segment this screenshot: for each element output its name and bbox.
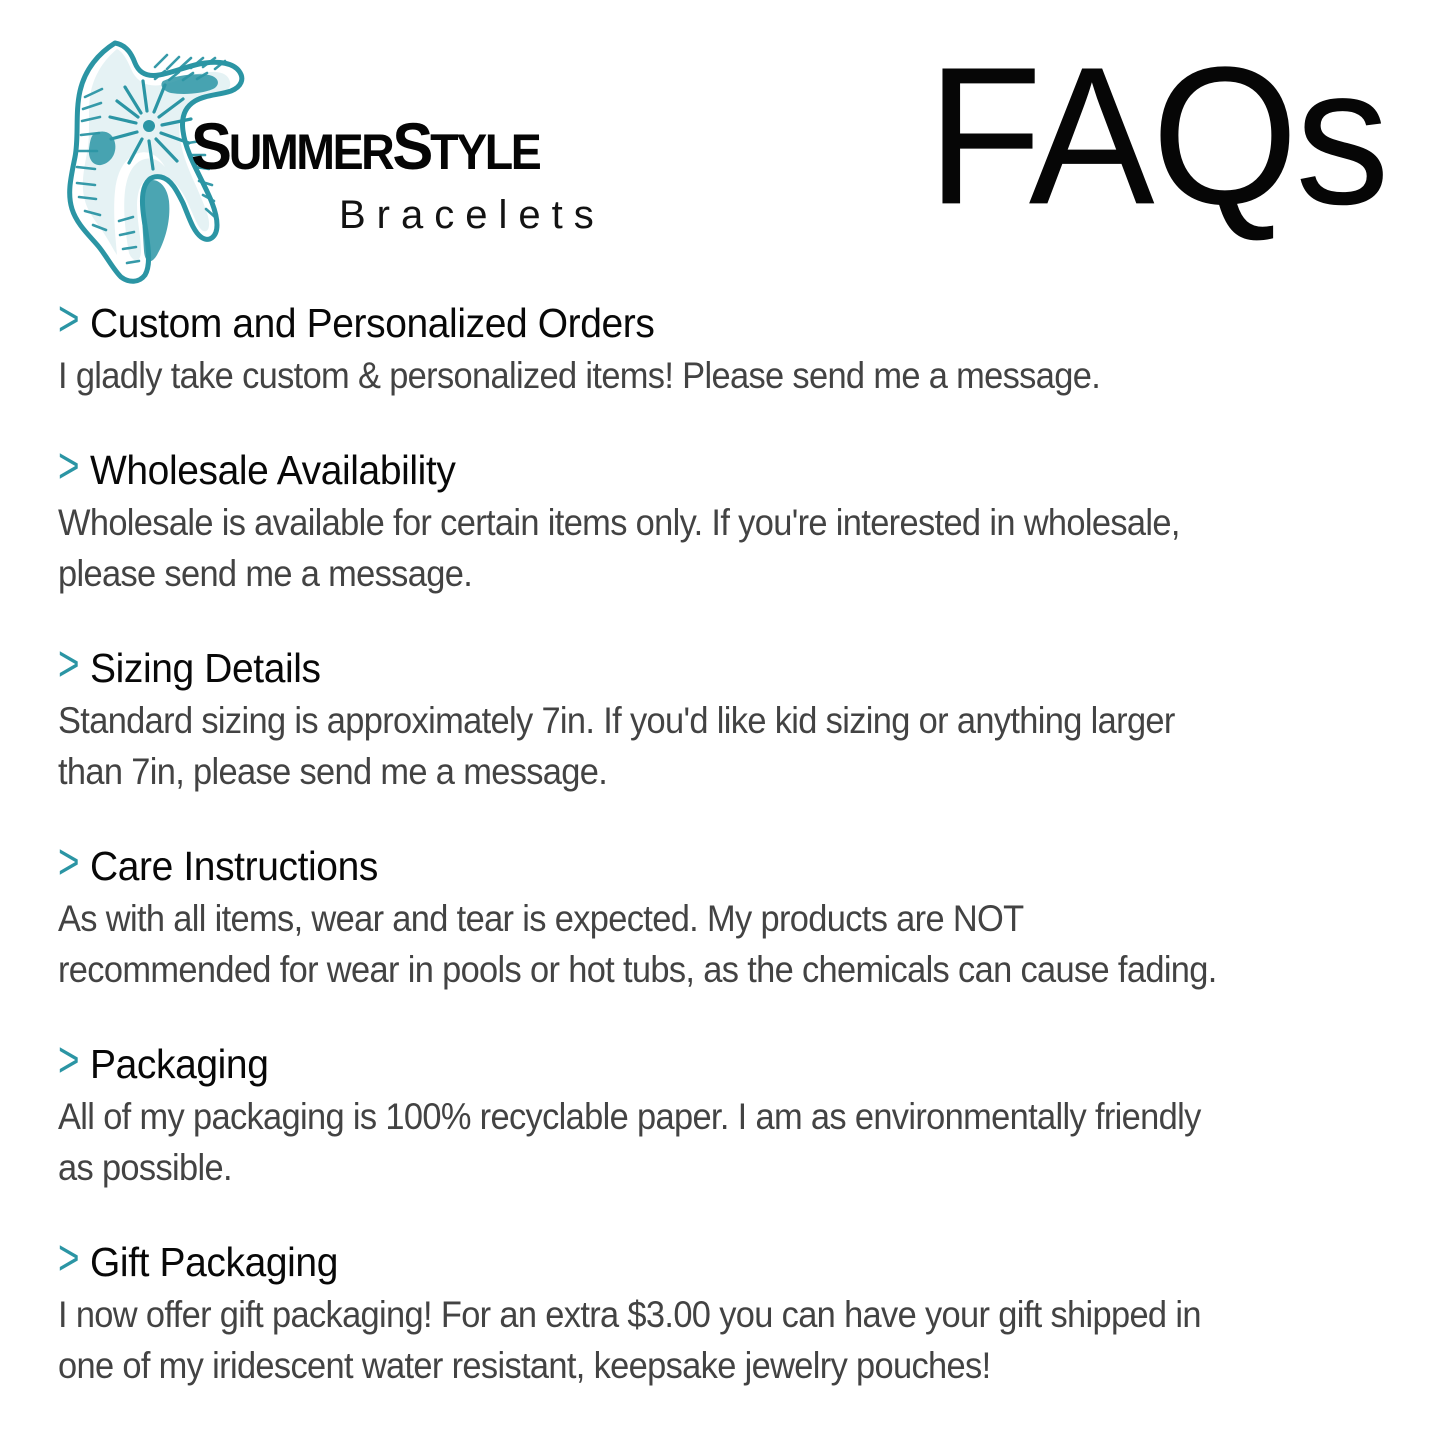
faq-heading-label: Gift Packaging: [90, 1239, 338, 1285]
faq-body-text: Wholesale is available for certain items…: [58, 497, 1234, 599]
faq-heading: > Gift Packaging: [58, 1239, 1238, 1285]
faq-body-text: All of my packaging is 100% recyclable p…: [58, 1091, 1234, 1193]
brand-lockup: SUMMERSTYLE Bracelets: [55, 20, 675, 292]
faq-heading: > Custom and Personalized Orders: [58, 300, 1238, 346]
faq-item-wholesale: > Wholesale Availability Wholesale is av…: [58, 447, 1238, 599]
chevron-right-icon: >: [58, 1035, 79, 1085]
faq-heading: > Sizing Details: [58, 645, 1238, 691]
page-header: SUMMERSTYLE Bracelets FAQs: [0, 0, 1445, 292]
faq-list: > Custom and Personalized Orders I gladl…: [58, 300, 1238, 1391]
chevron-right-icon: >: [58, 294, 79, 344]
brand-word-style-rest: TYLE: [430, 124, 539, 180]
faq-heading: > Wholesale Availability: [58, 447, 1238, 493]
faq-heading-label: Custom and Personalized Orders: [90, 300, 654, 346]
faq-item-gift-packaging: > Gift Packaging I now offer gift packag…: [58, 1239, 1238, 1391]
brand-word-summer-rest: UMMER: [229, 124, 393, 180]
faq-heading: > Packaging: [58, 1041, 1238, 1087]
chevron-right-icon: >: [58, 441, 79, 491]
faq-item-custom-orders: > Custom and Personalized Orders I gladl…: [58, 300, 1238, 401]
faq-heading-label: Wholesale Availability: [90, 447, 455, 493]
faq-item-packaging: > Packaging All of my packaging is 100% …: [58, 1041, 1238, 1193]
faq-page: SUMMERSTYLE Bracelets FAQs > Custom and …: [0, 0, 1445, 1445]
faq-heading-label: Care Instructions: [90, 843, 378, 889]
chevron-right-icon: >: [58, 837, 79, 887]
faq-body-text: As with all items, wear and tear is expe…: [58, 893, 1234, 995]
brand-word-style-initial: S: [392, 109, 430, 183]
brand-wordmark: SUMMERSTYLE: [191, 112, 539, 186]
faq-heading-label: Sizing Details: [90, 645, 321, 691]
chevron-right-icon: >: [58, 1233, 79, 1283]
faq-item-sizing: > Sizing Details Standard sizing is appr…: [58, 645, 1238, 797]
faq-body-text: I now offer gift packaging! For an extra…: [58, 1289, 1234, 1391]
faq-item-care: > Care Instructions As with all items, w…: [58, 843, 1238, 995]
faq-body-text: I gladly take custom & personalized item…: [58, 350, 1234, 401]
page-title: FAQs: [927, 38, 1387, 235]
brand-subtitle: Bracelets: [339, 193, 605, 237]
faq-body-text: Standard sizing is approximately 7in. If…: [58, 695, 1234, 797]
faq-heading: > Care Instructions: [58, 843, 1238, 889]
chevron-right-icon: >: [58, 639, 79, 689]
brand-word-summer-initial: S: [191, 109, 229, 183]
faq-heading-label: Packaging: [90, 1041, 268, 1087]
